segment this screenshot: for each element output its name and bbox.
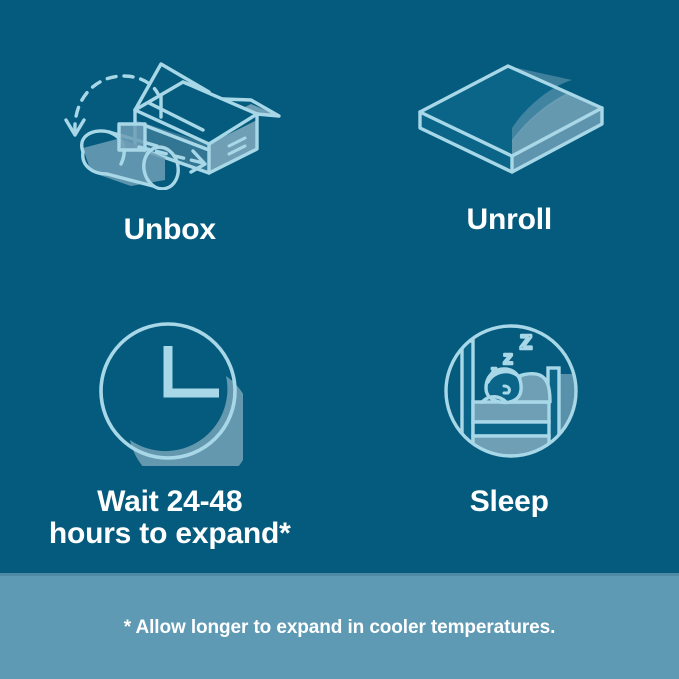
step-card-unbox: Unbox <box>0 0 340 287</box>
step-card-unroll: Unroll <box>340 0 679 287</box>
step-label-unroll: Unroll <box>467 204 552 236</box>
step-label-wait: Wait 24-48 hours to expand* <box>49 486 291 551</box>
svg-text:Z: Z <box>520 332 532 354</box>
person-sleeping-in-bed-icon: Z Z z <box>436 316 586 466</box>
steps-grid: Unbox <box>0 0 679 573</box>
step-label-sleep: Sleep <box>470 486 549 518</box>
step-card-wait: Wait 24-48 hours to expand* <box>0 287 340 574</box>
svg-text:Z: Z <box>504 351 513 368</box>
mattress-setup-infographic: Unbox <box>0 0 679 679</box>
step-label-unbox: Unbox <box>124 214 216 246</box>
open-box-with-rolled-mattress-icon <box>53 40 283 190</box>
flat-mattress-icon <box>412 50 612 180</box>
clock-icon <box>93 316 243 466</box>
step-card-sleep: Z Z z Sleep <box>340 287 679 574</box>
footnote-text: * Allow longer to expand in cooler tempe… <box>124 617 556 639</box>
svg-text:z: z <box>492 365 498 377</box>
footnote-bar: * Allow longer to expand in cooler tempe… <box>0 573 679 679</box>
